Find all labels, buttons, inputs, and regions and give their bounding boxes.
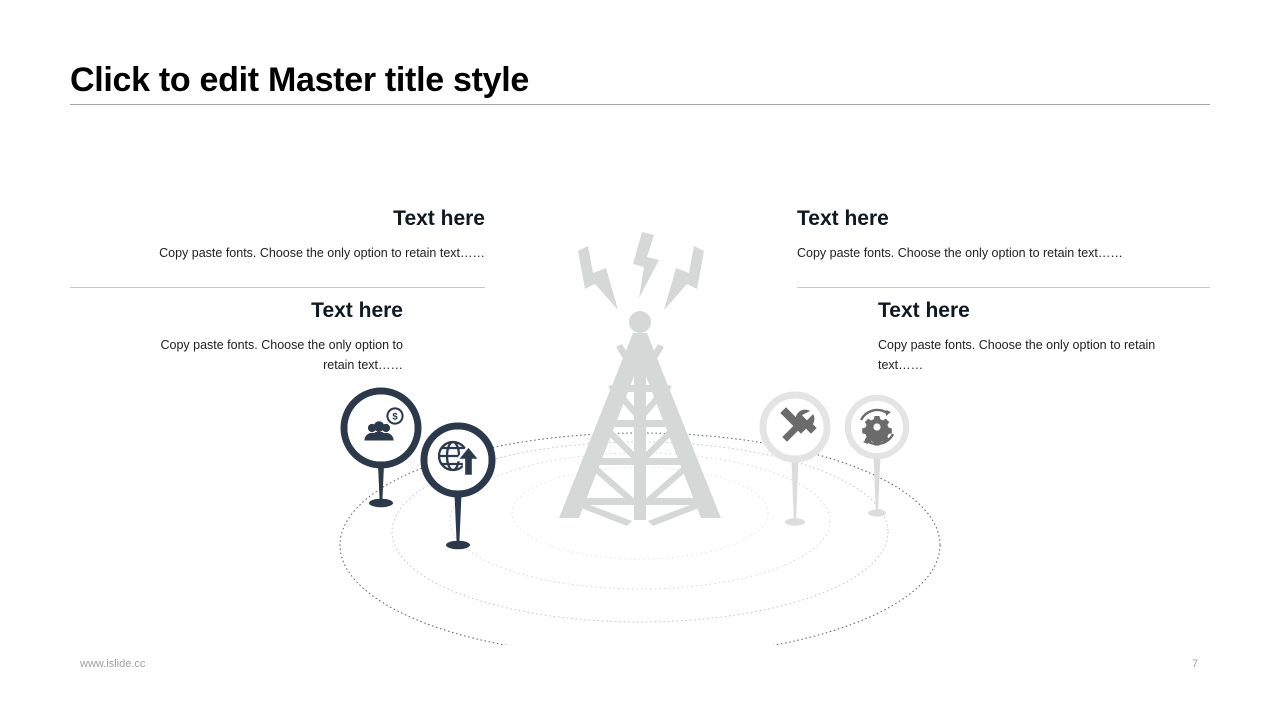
svg-text:$: $ [392,411,398,422]
broadcast-tower-icon [559,232,721,526]
footer-url[interactable]: www.islide.cc [80,658,145,670]
title-placeholder[interactable]: Click to edit Master title style [70,58,1210,102]
page-number: 7 [1180,658,1210,670]
pin-people-money[interactable]: $ [344,391,418,507]
title-divider [70,104,1210,105]
pin-gear-refresh[interactable] [848,398,906,517]
page-title: Click to edit Master title style [70,58,1210,102]
tower-illustration: $ [320,215,960,645]
pin-tools[interactable] [763,395,827,526]
slide-canvas: Click to edit Master title style Text he… [0,0,1280,720]
pin-globe-arrow[interactable] [424,426,492,549]
